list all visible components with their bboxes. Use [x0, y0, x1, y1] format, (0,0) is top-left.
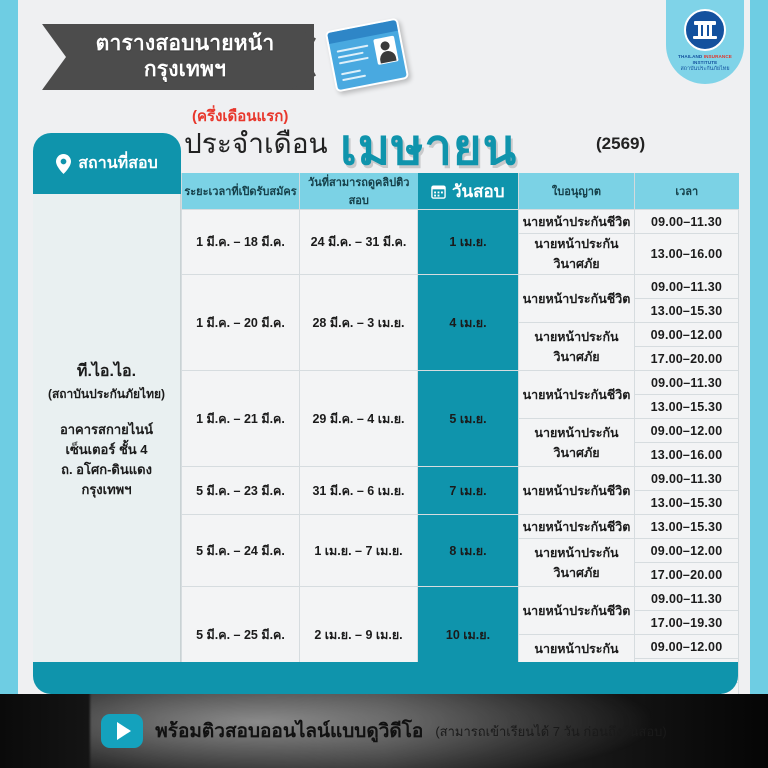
cell-exam-time: 09.00–11.30	[635, 371, 739, 395]
cell-exam-time: 13.00–16.00	[635, 443, 739, 467]
venue-name: ที.ไอ.ไอ.	[39, 362, 174, 383]
cell-license-type: นายหน้าประกันวินาศภัย	[519, 419, 635, 467]
id-card-icon	[325, 18, 409, 93]
venue-column: ที.ไอ.ไอ. (สถาบันประกันภัยไทย) อาคารสกาย…	[33, 194, 181, 662]
id-card-text-line	[342, 75, 366, 82]
th-time: เวลา	[635, 173, 739, 210]
cell-application-period: 1 มี.ค. – 21 มี.ค.	[182, 371, 300, 467]
logo-capital-icon	[694, 21, 716, 25]
play-triangle-icon	[117, 722, 131, 740]
cell-license-type: นายหน้าประกันชีวิต	[519, 210, 635, 234]
cell-license-type: นายหน้าประกันชีวิต	[519, 587, 635, 635]
cell-exam-time: 09.00–11.30	[635, 210, 739, 234]
monthly-prefix: ประจำเดือน	[184, 122, 328, 166]
footer-note-text: (สามารถเข้าเรียนได้ 7 วัน ก่อนถึงวันสอบ)	[435, 721, 666, 742]
table-header-row: ระยะเวลาที่เปิดรับสมัคร วันที่สามารถดูคล…	[182, 173, 739, 210]
cell-exam-time: 13.00–15.30	[635, 491, 739, 515]
cell-license-type: นายหน้าประกันชีวิต	[519, 515, 635, 539]
venue-address: อาคารสกายไนน์ เซ็นเตอร์ ชั้น 4 ถ. อโศก-ด…	[39, 420, 174, 501]
cell-exam-time: 13.00–15.30	[635, 515, 739, 539]
cell-license-type: นายหน้าประกันวินาศภัย	[519, 234, 635, 275]
logo-pillars-icon	[698, 24, 713, 37]
cell-license-type: นายหน้าประกันชีวิต	[519, 467, 635, 515]
cell-exam-time: 09.00–12.00	[635, 323, 739, 347]
footer-content: พร้อมติวสอบออนไลน์แบบดูวิดีโอ (สามารถเข้…	[0, 694, 768, 768]
cell-clip-dates: 28 มี.ค. – 3 เม.ย.	[300, 275, 418, 371]
th-application-period: ระยะเวลาที่เปิดรับสมัคร	[182, 173, 300, 210]
tii-logo-mark-icon	[684, 9, 726, 51]
cell-clip-dates: 1 เม.ย. – 7 เม.ย.	[300, 515, 418, 587]
id-card-text-line	[339, 57, 369, 65]
cell-clip-dates: 31 มี.ค. – 6 เม.ย.	[300, 467, 418, 515]
id-card-text-line	[341, 69, 361, 75]
cell-exam-time: 17.00–20.00	[635, 347, 739, 371]
cell-exam-time: 09.00–12.00	[635, 539, 739, 563]
cell-license-type: นายหน้าประกันชีวิต	[519, 275, 635, 323]
ribbon-line-2: กรุงเทพฯ	[96, 57, 275, 83]
footer-main-text: พร้อมติวสอบออนไลน์แบบดูวิดีโอ	[155, 716, 423, 746]
tii-logo-badge: THAILAND INSURANCE INSTITUTE สถาบันประกั…	[666, 0, 744, 84]
cell-license-type: นายหน้าประกันชีวิต	[519, 371, 635, 419]
cell-license-type: นายหน้าประกันวินาศภัย	[519, 539, 635, 587]
venue-name-paren: (สถาบันประกันภัยไทย)	[39, 385, 174, 404]
venue-address-line-3: ถ. อโศก-ดินแดง	[39, 460, 174, 480]
th-clip-viewing-dates: วันที่สามารถดูคลิปติวสอบ	[300, 173, 418, 210]
cell-application-period: 1 มี.ค. – 18 มี.ค.	[182, 210, 300, 275]
venue-details: ที.ไอ.ไอ. (สถาบันประกันภัยไทย) อาคารสกาย…	[33, 362, 180, 500]
schedule-table-wrap: ระยะเวลาที่เปิดรับสมัคร วันที่สามารถดูคล…	[181, 173, 738, 662]
cell-application-period: 5 มี.ค. – 23 มี.ค.	[182, 467, 300, 515]
cell-exam-time: 17.00–20.00	[635, 563, 739, 587]
cell-exam-time: 09.00–11.30	[635, 467, 739, 491]
logo-en-highlight: INSURANCE	[704, 54, 732, 59]
logo-en-line1: THAILAND	[678, 54, 702, 59]
table-row: 1 มี.ค. – 20 มี.ค.28 มี.ค. – 3 เม.ย.4 เม…	[182, 275, 739, 299]
th-license: ใบอนุญาต	[519, 173, 635, 210]
ribbon-text: ตารางสอบนายหน้า กรุงเทพฯ	[96, 31, 275, 82]
license-card-illustration	[325, 18, 409, 93]
footer-strip: พร้อมติวสอบออนไลน์แบบดูวิดีโอ (สามารถเข้…	[0, 694, 768, 768]
title-ribbon: ตารางสอบนายหน้า กรุงเทพฯ	[42, 24, 314, 90]
cell-exam-time: 09.00–11.30	[635, 587, 739, 611]
logo-base-icon	[693, 36, 717, 39]
cell-exam-time: 13.00–15.30	[635, 395, 739, 419]
table-head: ระยะเวลาที่เปิดรับสมัคร วันที่สามารถดูคล…	[182, 173, 739, 210]
year-label: (2569)	[596, 134, 645, 154]
calendar-icon	[431, 184, 446, 199]
cell-exam-date: 4 เม.ย.	[418, 275, 519, 371]
cell-exam-date: 8 เม.ย.	[418, 515, 519, 587]
logo-th-text: สถาบันประกันภัยไทย	[681, 66, 730, 72]
location-pin-icon	[56, 154, 71, 174]
cell-exam-time: 09.00–12.00	[635, 419, 739, 443]
ribbon-line-1: ตารางสอบนายหน้า	[96, 31, 275, 57]
cell-exam-date: 5 เม.ย.	[418, 371, 519, 467]
cell-exam-time: 09.00–12.00	[635, 635, 739, 659]
cell-exam-time: 09.00–11.30	[635, 275, 739, 299]
play-button-icon[interactable]	[101, 714, 143, 748]
table-row: 5 มี.ค. – 23 มี.ค.31 มี.ค. – 6 เม.ย.7 เม…	[182, 467, 739, 491]
venue-header: สถานที่สอบ	[33, 133, 181, 194]
venue-address-line-1: อาคารสกายไนน์	[39, 420, 174, 440]
cell-exam-time: 13.00–16.00	[635, 234, 739, 275]
th-exam-date-label: วันสอบ	[452, 178, 505, 205]
cell-exam-date: 1 เม.ย.	[418, 210, 519, 275]
cell-application-period: 1 มี.ค. – 20 มี.ค.	[182, 275, 300, 371]
cell-clip-dates: 24 มี.ค. – 31 มี.ค.	[300, 210, 418, 275]
cell-exam-time: 17.00–19.30	[635, 611, 739, 635]
table-row: 1 มี.ค. – 21 มี.ค.29 มี.ค. – 4 เม.ย.5 เม…	[182, 371, 739, 395]
table-row: 1 มี.ค. – 18 มี.ค.24 มี.ค. – 31 มี.ค.1 เ…	[182, 210, 739, 234]
venue-address-line-4: กรุงเทพฯ	[39, 480, 174, 500]
id-card-text-line	[337, 45, 369, 53]
cell-clip-dates: 29 มี.ค. – 4 เม.ย.	[300, 371, 418, 467]
table-row: 5 มี.ค. – 25 มี.ค.2 เม.ย. – 9 เม.ย.10 เม…	[182, 587, 739, 611]
id-card-portrait-icon	[373, 36, 399, 66]
th-exam-date: วันสอบ	[418, 173, 519, 210]
venue-address-line-2: เซ็นเตอร์ ชั้น 4	[39, 440, 174, 460]
cell-license-type: นายหน้าประกันวินาศภัย	[519, 323, 635, 371]
venue-header-label: สถานที่สอบ	[78, 151, 157, 176]
table-row: 5 มี.ค. – 24 มี.ค.1 เม.ย. – 7 เม.ย.8 เม.…	[182, 515, 739, 539]
footer-teal-bar	[33, 662, 738, 694]
cell-application-period: 5 มี.ค. – 24 มี.ค.	[182, 515, 300, 587]
top-area: ตารางสอบนายหน้า กรุงเทพฯ	[0, 0, 768, 112]
poster-root: ตารางสอบนายหน้า กรุงเทพฯ	[0, 0, 768, 768]
logo-en-text: THAILAND INSURANCE INSTITUTE	[678, 54, 732, 66]
cell-exam-date: 7 เม.ย.	[418, 467, 519, 515]
cell-exam-time: 13.00–15.30	[635, 299, 739, 323]
